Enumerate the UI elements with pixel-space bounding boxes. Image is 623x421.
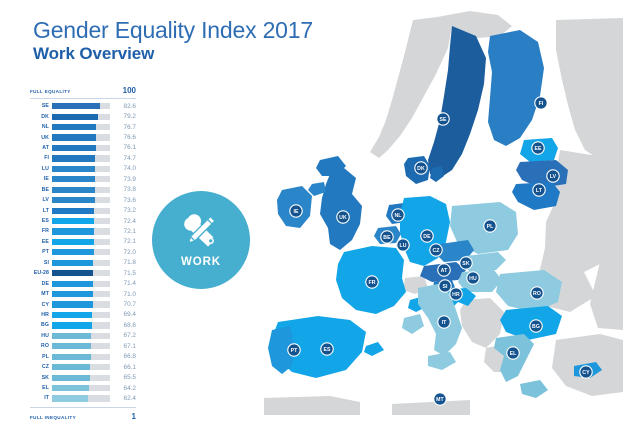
ranking-row: LU74.0 (30, 164, 136, 174)
score-value: 73.2 (110, 207, 136, 214)
score-bar-track (52, 197, 110, 203)
score-bar-fill (52, 375, 90, 381)
country-code: IE (30, 176, 52, 182)
ranking-row: ES72.4 (30, 216, 136, 226)
map-badge-label: AT (441, 268, 448, 274)
score-bar-track (52, 333, 110, 339)
score-bar-track (52, 249, 110, 255)
ranking-row: MT71.0 (30, 289, 136, 299)
score-value: 64.2 (110, 385, 136, 392)
map-badge-label: SE (439, 117, 447, 123)
map-badge-label: MT (436, 397, 444, 403)
score-bar-fill (52, 114, 98, 120)
map-badge-label: EE (534, 146, 542, 152)
map-label-ie: IE (290, 205, 302, 217)
score-value: 71.4 (110, 280, 136, 287)
score-bar-fill (52, 228, 94, 234)
score-bar-fill (52, 354, 91, 360)
score-value: 76.1 (110, 144, 136, 151)
country-code: PT (30, 249, 52, 255)
ranking-row: EU-2871.5 (30, 268, 136, 278)
map-label-ro: RO (531, 287, 543, 299)
country-code: DE (30, 281, 52, 287)
score-bar-fill (52, 312, 92, 318)
score-value: 73.9 (110, 176, 136, 183)
ranking-row: LV73.6 (30, 195, 136, 205)
score-bar-track (52, 155, 110, 161)
country-code: LT (30, 208, 52, 214)
country-code: FR (30, 228, 52, 234)
country-code: SK (30, 375, 52, 381)
score-value: 68.6 (110, 322, 136, 329)
country-code: ES (30, 218, 52, 224)
map-badge-label: PT (291, 348, 299, 354)
ranking-row: CZ66.1 (30, 362, 136, 372)
map-badge-label: DE (423, 234, 431, 240)
full-equality-header: FULL EQUALITY 100 (30, 86, 136, 99)
work-badge-label: WORK (181, 256, 221, 268)
ranking-row: HR69.4 (30, 310, 136, 320)
country-code: CZ (30, 364, 52, 370)
ranking-row: LT73.2 (30, 205, 136, 215)
map-label-bg: BG (530, 320, 542, 332)
score-value: 76.6 (110, 134, 136, 141)
map-badge-label: IE (293, 209, 299, 215)
ranking-row: SI71.8 (30, 258, 136, 268)
score-value: 72.4 (110, 218, 136, 225)
ranking-row: DE71.4 (30, 278, 136, 288)
score-bar-fill (52, 333, 91, 339)
score-bar-fill (52, 103, 100, 109)
score-value: 72.1 (110, 228, 136, 235)
score-value: 67.1 (110, 343, 136, 350)
score-bar-track (52, 176, 110, 182)
ranking-row: FI74.7 (30, 153, 136, 163)
map-badge-label: LT (536, 188, 543, 194)
map-label-lv: LV (547, 170, 559, 182)
country-code: UK (30, 135, 52, 141)
score-bar-track (52, 228, 110, 234)
map-label-hr: HR (450, 288, 462, 300)
score-bar-fill (52, 208, 94, 214)
map-badge-label: CY (582, 370, 590, 376)
score-value: 82.6 (110, 103, 136, 110)
score-value: 76.7 (110, 124, 136, 131)
country-code: LV (30, 197, 52, 203)
map-label-lt: LT (533, 184, 545, 196)
full-equality-value: 100 (114, 86, 136, 95)
title-block: Gender Equality Index 2017 Work Overview (33, 18, 313, 63)
full-equality-caption: FULL EQUALITY (30, 89, 114, 94)
score-bar-fill (52, 155, 95, 161)
score-bar-fill (52, 385, 89, 391)
map-label-it: IT (438, 316, 450, 328)
score-bar-fill (52, 176, 95, 182)
score-bar-track (52, 103, 110, 109)
country-code: EE (30, 239, 52, 245)
score-bar-track (52, 385, 110, 391)
score-bar-track (52, 395, 110, 401)
map-badge-label: BG (532, 324, 540, 330)
map-badge-label: DK (417, 166, 425, 172)
full-inequality-caption: FULL INEQUALITY (30, 415, 114, 420)
country-ranking-panel: FULL EQUALITY 100 SE82.6DK79.2NL76.7UK76… (30, 86, 136, 421)
country-code: DK (30, 114, 52, 120)
map-label-at: AT (438, 264, 450, 276)
map-label-uk: UK (337, 211, 349, 223)
full-inequality-footer: FULL INEQUALITY 1 (30, 407, 136, 421)
country-code: BG (30, 322, 52, 328)
full-inequality-value: 1 (114, 412, 136, 421)
score-bar-track (52, 291, 110, 297)
map-label-el: EL (507, 347, 519, 359)
score-bar-track (52, 166, 110, 172)
map-label-pt: PT (288, 344, 300, 356)
wrench-and-pencil-icon (179, 211, 223, 253)
map-label-ee: EE (532, 142, 544, 154)
map-label-es: ES (321, 343, 333, 355)
map-label-cz: CZ (430, 244, 442, 256)
map-badge-label: RO (533, 291, 541, 297)
map-badge-label: EL (510, 351, 518, 357)
map-label-lu: LU (397, 239, 409, 251)
score-bar-fill (52, 301, 93, 307)
score-bar-fill (52, 239, 94, 245)
ranking-row: RO67.1 (30, 341, 136, 351)
score-bar-fill (52, 291, 93, 297)
ranking-row: NL76.7 (30, 122, 136, 132)
ranking-row: FR72.1 (30, 226, 136, 236)
score-bar-track (52, 187, 110, 193)
score-bar-track (52, 124, 110, 130)
ranking-rows: SE82.6DK79.2NL76.7UK76.6AT76.1FI74.7LU74… (30, 101, 136, 404)
score-bar-fill (52, 395, 88, 401)
map-label-se: SE (437, 113, 449, 125)
score-bar-track (52, 281, 110, 287)
score-bar-track (52, 312, 110, 318)
score-value: 74.7 (110, 155, 136, 162)
score-bar-fill (52, 281, 93, 287)
score-bar-fill (52, 124, 96, 130)
score-bar-track (52, 270, 110, 276)
score-value: 72.1 (110, 238, 136, 245)
score-bar-track (52, 260, 110, 266)
country-code: HU (30, 333, 52, 339)
map-badge-label: ES (323, 347, 331, 353)
country-code: LU (30, 166, 52, 172)
ranking-row: BE73.8 (30, 185, 136, 195)
country-code: HR (30, 312, 52, 318)
map-badge-label: HR (452, 292, 460, 298)
score-bar-track (52, 364, 110, 370)
map-label-fi: FI (535, 97, 547, 109)
country-code: RO (30, 343, 52, 349)
map-label-sk: SK (460, 257, 472, 269)
score-value: 73.6 (110, 197, 136, 204)
score-bar-track (52, 301, 110, 307)
country-code: PL (30, 354, 52, 360)
work-domain-badge: WORK (152, 191, 250, 289)
score-value: 69.4 (110, 311, 136, 318)
ranking-row: IE73.9 (30, 174, 136, 184)
score-bar-track (52, 134, 110, 140)
score-bar-track (52, 208, 110, 214)
map-badge-label: BE (383, 235, 391, 241)
ranking-row: EL64.2 (30, 383, 136, 393)
ranking-row: SK65.5 (30, 372, 136, 382)
ranking-row: HU67.2 (30, 331, 136, 341)
score-bar-track (52, 145, 110, 151)
map-badge-label: NL (394, 213, 402, 219)
map-label-be: BE (381, 231, 393, 243)
country-code: IT (30, 395, 52, 401)
country-code: MT (30, 291, 52, 297)
score-value: 66.8 (110, 353, 136, 360)
country-code: AT (30, 145, 52, 151)
score-bar-track (52, 322, 110, 328)
ranking-row: PL66.8 (30, 352, 136, 362)
ranking-row: AT76.1 (30, 143, 136, 153)
ranking-row: BG68.6 (30, 320, 136, 330)
map-label-si: SI (439, 280, 451, 292)
map-badge-label: LV (550, 174, 557, 180)
score-value: 72.0 (110, 249, 136, 256)
score-bar-fill (52, 270, 93, 276)
score-bar-fill (52, 364, 90, 370)
score-bar-fill (52, 187, 95, 193)
map-badge-label: CZ (432, 248, 440, 254)
score-value: 66.1 (110, 364, 136, 371)
score-bar-fill (52, 343, 91, 349)
score-bar-fill (52, 166, 95, 172)
page-subtitle: Work Overview (33, 45, 313, 63)
score-bar-track (52, 239, 110, 245)
ranking-row: EE72.1 (30, 237, 136, 247)
ranking-row: DK79.2 (30, 111, 136, 121)
map-badge-label: SI (442, 284, 448, 290)
score-value: 67.2 (110, 332, 136, 339)
score-value: 70.7 (110, 301, 136, 308)
map-label-nl: NL (392, 209, 404, 221)
map-badge-label: UK (339, 215, 347, 221)
score-bar-fill (52, 145, 96, 151)
ranking-row: CY70.7 (30, 299, 136, 309)
score-bar-fill (52, 322, 92, 328)
ranking-row: UK76.6 (30, 132, 136, 142)
country-code: SI (30, 260, 52, 266)
ranking-row: SE82.6 (30, 101, 136, 111)
score-bar-fill (52, 218, 94, 224)
score-value: 74.0 (110, 165, 136, 172)
score-bar-track (52, 218, 110, 224)
map-badge-label: FR (368, 280, 375, 286)
score-value: 73.8 (110, 186, 136, 193)
score-value: 71.0 (110, 291, 136, 298)
map-badge-label: LU (399, 243, 406, 249)
country-code: BE (30, 187, 52, 193)
map-label-de: DE (421, 230, 433, 242)
ranking-row: IT62.4 (30, 393, 136, 403)
score-bar-track (52, 354, 110, 360)
score-bar-track (52, 114, 110, 120)
score-value: 65.5 (110, 374, 136, 381)
score-bar-fill (52, 260, 93, 266)
score-value: 79.2 (110, 113, 136, 120)
map-badge-label: SK (462, 261, 470, 267)
page-title: Gender Equality Index 2017 (33, 18, 313, 42)
score-bar-fill (52, 197, 95, 203)
map-label-pl: PL (484, 220, 496, 232)
score-bar-fill (52, 249, 94, 255)
score-value: 62.4 (110, 395, 136, 402)
country-code: SE (30, 103, 52, 109)
map-label-mt: MT (434, 393, 446, 405)
score-value: 71.5 (110, 270, 136, 277)
score-value: 71.8 (110, 259, 136, 266)
score-bar-track (52, 375, 110, 381)
country-code: EU-28 (30, 270, 52, 276)
map-badge-label: HU (469, 276, 477, 282)
country-code: CY (30, 302, 52, 308)
map-badge-label: PL (487, 224, 495, 230)
country-code: NL (30, 124, 52, 130)
ranking-row: PT72.0 (30, 247, 136, 257)
map-label-cy: CY (580, 366, 592, 378)
score-bar-track (52, 343, 110, 349)
country-code: FI (30, 155, 52, 161)
map-label-fr: FR (366, 276, 378, 288)
map-badge-label: FI (539, 101, 544, 107)
map-badge-label: IT (442, 320, 448, 326)
score-bar-fill (52, 134, 96, 140)
country-code: EL (30, 385, 52, 391)
map-label-hu: HU (467, 272, 479, 284)
map-label-dk: DK (415, 162, 427, 174)
